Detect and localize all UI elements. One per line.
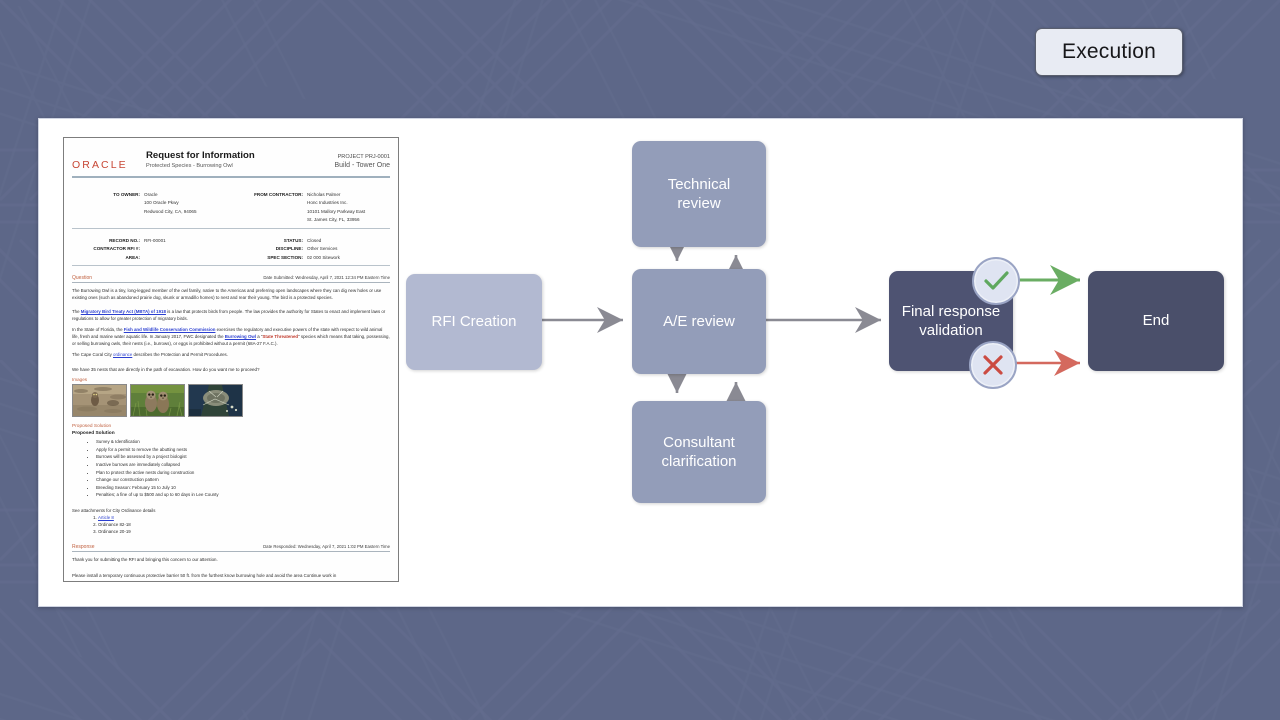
record-fields-block: RECORD NO.: CONTRACTOR RFI #: AREA: RFI-… xyxy=(72,237,390,262)
status-label: STATUS: xyxy=(231,237,303,245)
to-owner-label: TO OWNER: xyxy=(72,191,144,225)
project-name: Build - Tower One xyxy=(306,161,390,172)
technical-review-line1: Technical xyxy=(668,176,731,193)
response-line-2: Please install a temporary continuous pr… xyxy=(72,572,390,579)
flow-node-end-label: End xyxy=(1135,311,1178,330)
final-line1: Final response xyxy=(902,303,1000,320)
flow-node-rfi-creation[interactable]: RFI Creation xyxy=(406,274,542,370)
consultant-line2: clarification xyxy=(661,453,736,470)
slide-canvas: Execution ORACLE Request for Information… xyxy=(0,0,1280,720)
question-paragraph-2: The Migratory Bird Treaty Act (MBTA) of … xyxy=(72,308,390,322)
list-item: Survey & Identification xyxy=(96,438,390,446)
to-owner-value: Oracle 100 Oracle Pkwy Redwood City, CA,… xyxy=(144,191,197,225)
rfi-document-preview[interactable]: ORACLE Request for Information Protected… xyxy=(63,137,399,582)
flow-node-final-label: Final response validation xyxy=(894,302,1008,340)
list-item: Inactive burrows are immediately collaps… xyxy=(96,461,390,469)
cross-icon xyxy=(978,350,1008,380)
response-section-header: Response Date Responded: Wednesday, Apri… xyxy=(72,544,390,550)
discipline-label: DISCIPLINE: xyxy=(231,245,303,253)
flow-node-rfi-creation-label: RFI Creation xyxy=(423,312,524,331)
record-no-value: RFI-00001 xyxy=(144,237,166,245)
flow-node-technical-review-label: Technical review xyxy=(660,175,739,213)
header-rule xyxy=(72,176,390,178)
execution-title-badge: Execution xyxy=(1035,28,1183,76)
reject-badge[interactable] xyxy=(969,341,1017,389)
technical-review-line2: review xyxy=(677,195,720,212)
owner-street: 100 Oracle Pkwy xyxy=(144,199,197,207)
document-subtitle: Protected Species - Burrowing Owl xyxy=(146,163,306,169)
response-underline xyxy=(72,551,390,552)
document-title-block: Request for Information Protected Specie… xyxy=(138,150,306,169)
attachment-link[interactable]: Ordinance 20-19 xyxy=(98,529,131,534)
from-contractor-label: FROM CONTRACTOR: xyxy=(231,191,307,225)
list-item: Penalties; a fine of up to $500 and up t… xyxy=(96,491,390,499)
discipline-value: Other Services xyxy=(307,245,340,253)
to-owner-group: TO OWNER: Oracle 100 Oracle Pkwy Redwood… xyxy=(72,191,231,225)
flow-node-consultant-clarification[interactable]: Consultant clarification xyxy=(632,401,766,503)
record-right-values: Closed Other Services 02 000 Sitework xyxy=(307,237,340,262)
contractor-company: Honc Industries Inc. xyxy=(307,199,365,207)
question-paragraph-3: In the State of Florida, the Fish and Wi… xyxy=(72,326,390,347)
aerial-site-photo-image[interactable] xyxy=(188,384,243,417)
proposed-solution-section-title: Proposed Solution xyxy=(72,424,390,429)
question-section-header: Question Date Submitted: Wednesday, Apri… xyxy=(72,275,390,281)
status-value: Closed xyxy=(307,237,340,245)
burrowing-owl-link[interactable]: Burrowing Owl xyxy=(225,334,256,339)
check-icon xyxy=(981,266,1011,296)
question-ask-line: We have 35 nests that are directly in th… xyxy=(72,367,390,372)
question-underline xyxy=(72,282,390,283)
record-left-group: RECORD NO.: CONTRACTOR RFI #: AREA: RFI-… xyxy=(72,237,231,262)
flow-node-consultant-label: Consultant clarification xyxy=(653,433,744,471)
images-label: Images xyxy=(72,377,390,382)
record-rule-top xyxy=(72,228,390,229)
flow-node-end[interactable]: End xyxy=(1088,271,1224,371)
document-header: ORACLE Request for Information Protected… xyxy=(72,144,390,172)
consultant-line1: Consultant xyxy=(663,434,735,451)
list-item[interactable]: Article 8 xyxy=(98,514,390,521)
images-row xyxy=(72,384,390,417)
p3-pre: In the State of Florida, the xyxy=(72,327,124,332)
response-line-1: Thank you for submitting the RFI and bri… xyxy=(72,556,390,563)
attachment-link[interactable]: Ordinance 82-18 xyxy=(98,522,131,527)
flow-node-technical-review[interactable]: Technical review xyxy=(632,141,766,247)
document-project-info: PROJECT PRJ-0001 Build - Tower One xyxy=(306,150,390,172)
contractor-street: 10101 Mallory Parkway East xyxy=(307,208,365,216)
parties-block: TO OWNER: Oracle 100 Oracle Pkwy Redwood… xyxy=(72,191,390,225)
burrowing-owl-in-desert-burrow-image[interactable] xyxy=(72,384,127,417)
state-threatened-text: State Threatened xyxy=(262,334,298,339)
area-value xyxy=(144,254,166,262)
mbta-link[interactable]: Migratory Bird Treaty Act (MBTA) of 1918 xyxy=(81,309,166,314)
p4-tail: describes the Protection and Permit Proc… xyxy=(132,352,228,357)
document-title: Request for Information xyxy=(146,150,306,162)
question-date-submitted: Date Submitted: Wednesday, April 7, 2021… xyxy=(263,275,390,280)
project-id: PROJECT PRJ-0001 xyxy=(306,153,390,161)
list-item: Apply for a permit to remove the abuttin… xyxy=(96,446,390,454)
owner-name: Oracle xyxy=(144,191,197,199)
record-right-labels: STATUS: DISCIPLINE: SPEC SECTION: xyxy=(231,237,307,262)
owner-city: Redwood City, CA, 94065 xyxy=(144,208,197,216)
spec-section-label: SPEC SECTION: xyxy=(231,254,303,262)
list-item: Breeding Season: February 15 to July 10 xyxy=(96,484,390,492)
question-section-title: Question xyxy=(72,275,92,281)
approve-badge[interactable] xyxy=(972,257,1020,305)
list-item: Change our construction pattern xyxy=(96,476,390,484)
p2-pre: The xyxy=(72,309,81,314)
p4-pre: The Cape Coral City xyxy=(72,352,113,357)
fwc-link[interactable]: Fish and Wildlife Conservation Commissio… xyxy=(124,327,216,332)
execution-title-label: Execution xyxy=(1062,40,1156,64)
contractor-name: Nicholas Palmer xyxy=(307,191,365,199)
list-item[interactable]: Ordinance 82-18 xyxy=(98,521,390,528)
final-line2: validation xyxy=(919,322,982,339)
contractor-rfi-label: CONTRACTOR RFI #: xyxy=(72,245,140,253)
oracle-logo: ORACLE xyxy=(72,150,138,171)
area-label: AREA: xyxy=(72,254,140,262)
proposed-solution-heading: Proposed Solution xyxy=(72,431,390,436)
from-contractor-group: FROM CONTRACTOR: Nicholas Palmer Honc In… xyxy=(231,191,390,225)
contractor-city: St. James City, FL, 33956 xyxy=(307,216,365,224)
response-date-responded: Date Responded: Wednesday, April 7, 2021… xyxy=(263,544,390,549)
record-right-group: STATUS: DISCIPLINE: SPEC SECTION: Closed… xyxy=(231,237,390,262)
contractor-rfi-value xyxy=(144,245,166,253)
list-item: Plan to protect the active nests during … xyxy=(96,469,390,477)
attachment-link[interactable]: Article 8 xyxy=(98,515,114,520)
two-burrowing-owl-chicks-on-grass-image[interactable] xyxy=(130,384,185,417)
proposed-solution-bullets: Survey & Identification Apply for a perm… xyxy=(72,438,390,499)
question-paragraph-4: The Cape Coral City ordinance describes … xyxy=(72,351,390,358)
question-paragraph-1: The Burrowing Owl is a tiny, long-legged… xyxy=(72,287,390,301)
oracle-logo-text: ORACLE xyxy=(72,159,138,171)
list-item[interactable]: Ordinance 20-19 xyxy=(98,528,390,535)
list-item: Burrows will be assessed by a project bi… xyxy=(96,453,390,461)
record-no-label: RECORD NO.: xyxy=(72,237,140,245)
record-rule-bottom xyxy=(72,265,390,266)
ordinance-link[interactable]: ordinance xyxy=(113,352,132,357)
spec-section-value: 02 000 Sitework xyxy=(307,254,340,262)
flow-node-ae-review[interactable]: A/E review xyxy=(632,269,766,374)
content-panel: ORACLE Request for Information Protected… xyxy=(38,118,1243,607)
record-left-values: RFI-00001 xyxy=(144,237,166,262)
record-left-labels: RECORD NO.: CONTRACTOR RFI #: AREA: xyxy=(72,237,144,262)
attachments-list: Article 8 Ordinance 82-18 Ordinance 20-1… xyxy=(72,514,390,535)
from-contractor-value: Nicholas Palmer Honc Industries Inc. 101… xyxy=(307,191,365,225)
response-section-title: Response xyxy=(72,544,95,550)
attachments-intro: See attachments for City Ordinance detai… xyxy=(72,508,390,513)
flow-node-ae-review-label: A/E review xyxy=(655,312,743,331)
